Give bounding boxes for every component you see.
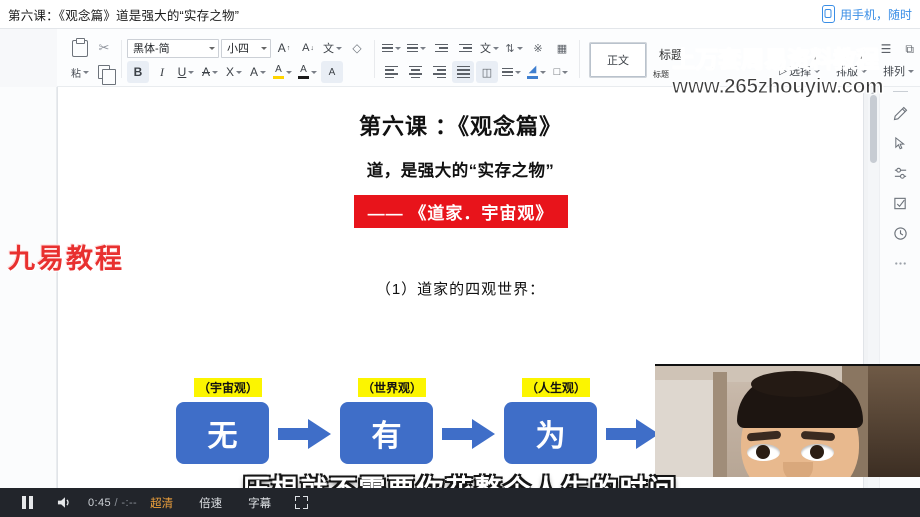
- paste-dropdown-button[interactable]: 粘: [69, 61, 91, 83]
- style-body-label: 正文: [607, 52, 629, 68]
- chevron-down-icon: [814, 70, 820, 73]
- chevron-down-icon: [336, 47, 342, 50]
- webcam-hair: [737, 376, 863, 428]
- history-clock-icon[interactable]: [880, 218, 920, 248]
- ribbon-group-paragraph: 文 ⇅ ※ ▦: [374, 33, 579, 87]
- align-center-icon: [409, 66, 422, 78]
- ribbon-group-editing: ☰ ⧉ ▷ 选择 排版 排列: [779, 33, 920, 87]
- flow-label-2: （人生观）: [522, 378, 590, 397]
- flow-box-0: 无: [176, 402, 269, 464]
- highlight-icon: A: [273, 65, 284, 79]
- shrink-font-label: A: [302, 42, 309, 54]
- arrange-label: 排列: [883, 63, 905, 79]
- left-gutter: [0, 87, 57, 488]
- paste-icon: [72, 40, 88, 57]
- highlight-button[interactable]: A: [271, 61, 294, 83]
- underline-button[interactable]: U: [175, 61, 197, 83]
- chevron-down-icon: [286, 71, 292, 74]
- speed-button[interactable]: 倍速: [186, 495, 235, 511]
- align-right-button[interactable]: [428, 61, 450, 83]
- typeset-label: 排版: [836, 63, 858, 79]
- flow-arrow-1: [442, 419, 495, 449]
- chevron-down-icon: [236, 71, 242, 74]
- chevron-down-icon: [493, 47, 499, 50]
- scrollbar-thumb[interactable]: [870, 95, 877, 163]
- highlight-label: A: [275, 65, 282, 75]
- phonetic-label: 文: [323, 40, 334, 56]
- decrease-indent-button[interactable]: [430, 37, 452, 59]
- chevron-down-icon: [261, 47, 267, 50]
- quality-button[interactable]: 超清: [137, 495, 186, 511]
- text-shading-button[interactable]: A: [321, 61, 343, 83]
- superscript-label: X: [226, 65, 234, 79]
- time-separator: /: [114, 497, 117, 509]
- align-right-icon: [433, 66, 446, 78]
- font-name-value: 黑体-简: [133, 40, 170, 56]
- style-body-button[interactable]: 正文: [589, 42, 647, 78]
- mobile-hint[interactable]: 用手机，随时: [822, 5, 912, 23]
- italic-button[interactable]: I: [151, 61, 173, 83]
- strike-label: A: [202, 65, 210, 79]
- flow-arrow-2: [606, 419, 659, 449]
- chevron-down-icon: [209, 47, 215, 50]
- increase-indent-icon: [459, 44, 472, 53]
- pen-icon[interactable]: [880, 98, 920, 128]
- chevron-down-icon: [260, 71, 266, 74]
- flow-label-0: （宇宙观）: [194, 378, 262, 397]
- doc-section-1: （1）道家的四观世界：: [58, 278, 863, 299]
- chevron-down-icon: [861, 70, 867, 73]
- webcam-door: [655, 380, 713, 477]
- chevron-down-icon: [515, 71, 521, 74]
- chevron-down-icon: [908, 70, 914, 73]
- paste-label: 粘: [71, 65, 81, 80]
- video-title-bar: 第六课：《观念篇》道是强大的“实存之物” 用手机，随时: [0, 0, 920, 29]
- copy-icon: [98, 65, 110, 79]
- copy-button[interactable]: [93, 61, 115, 83]
- watermark-left: 九易教程: [8, 237, 124, 276]
- font-color-button[interactable]: A: [296, 61, 319, 83]
- chevron-down-icon: [395, 47, 401, 50]
- paste-button[interactable]: [69, 37, 91, 59]
- flow-box-2: 为: [504, 402, 597, 464]
- doc-heading-2: 道，是强大的“实存之物”: [58, 157, 863, 181]
- sort-icon: ⇅: [505, 42, 514, 55]
- bold-button[interactable]: B: [127, 61, 149, 83]
- webcam-overlay[interactable]: [655, 364, 920, 477]
- webcam-door-frame: [713, 372, 727, 477]
- webcam-eye-left: [747, 444, 780, 461]
- underline-label: U: [178, 65, 187, 79]
- volume-icon[interactable]: [44, 488, 84, 517]
- fullscreen-icon[interactable]: [288, 488, 314, 517]
- chevron-down-icon: [83, 71, 89, 74]
- chevron-down-icon: [420, 47, 426, 50]
- distribute-button[interactable]: ◫: [476, 61, 498, 83]
- cut-button[interactable]: ✂: [93, 37, 115, 59]
- superscript-button[interactable]: X: [223, 61, 245, 83]
- align-center-button[interactable]: [404, 61, 426, 83]
- annotate-icon[interactable]: [880, 188, 920, 218]
- doc-red-band: —— 《道家．宇宙观》: [354, 195, 568, 228]
- typeset-button[interactable]: 排版: [836, 63, 867, 79]
- caption-button[interactable]: 字幕: [235, 495, 284, 511]
- font-color-icon: A: [298, 65, 309, 79]
- chevron-down-icon: [562, 71, 568, 74]
- borders-icon: □: [554, 66, 561, 78]
- grow-font-button[interactable]: A↑: [273, 37, 295, 59]
- clear-format-button[interactable]: ◇: [346, 37, 368, 59]
- align-left-button[interactable]: [380, 61, 402, 83]
- video-player-page: 第六课：《观念篇》道是强大的“实存之物” 用手机，随时 ✂: [0, 0, 920, 517]
- grid-button[interactable]: ▦: [551, 37, 573, 59]
- ribbon-toolbar: ✂ 粘: [57, 29, 920, 87]
- player-control-bar: 0:45 / -:-- 超清 倍速 字幕: [0, 488, 920, 517]
- font-color-label: A: [300, 65, 307, 75]
- chevron-down-icon: [188, 71, 194, 74]
- bullet-list-icon: [382, 44, 393, 53]
- cursor-icon: ▷: [779, 66, 787, 77]
- chevron-down-icon: [311, 71, 317, 74]
- char-border-label: A: [250, 65, 258, 79]
- align-justify-icon: [457, 66, 470, 78]
- replace-icon[interactable]: ⧉: [905, 42, 914, 57]
- video-title: 第六课：《观念篇》道是强大的“实存之物”: [8, 5, 239, 24]
- shading-label: A: [329, 67, 336, 78]
- asian-layout-button[interactable]: 文: [478, 37, 501, 59]
- grow-font-label: A: [278, 41, 286, 55]
- align-left-icon: [385, 66, 398, 78]
- font-name-combo[interactable]: 黑体-简: [127, 39, 219, 58]
- chevron-down-icon: [517, 47, 523, 50]
- distribute-icon: ◫: [482, 66, 492, 79]
- doc-heading-1: 第六课 ：《观念篇》: [58, 109, 863, 141]
- borders-button[interactable]: □: [550, 61, 572, 83]
- font-size-combo[interactable]: 小四: [221, 39, 271, 58]
- strikethrough-button[interactable]: A: [199, 61, 221, 83]
- mobile-hint-label: 用手机，随时: [840, 6, 912, 23]
- current-time: 0:45: [88, 497, 111, 509]
- flow-label-1: （世界观）: [358, 378, 426, 397]
- asian-layout-icon: 文: [480, 40, 491, 56]
- phonetic-guide-button[interactable]: 文: [321, 37, 344, 59]
- webcam-dark-right: [868, 366, 920, 477]
- flow-box-1: 有: [340, 402, 433, 464]
- char-border-button[interactable]: A: [247, 61, 269, 83]
- paragraph-marks-icon: ※: [533, 42, 542, 55]
- chevron-down-icon: [540, 71, 546, 74]
- shrink-font-button[interactable]: A↓: [297, 37, 319, 59]
- font-size-value: 小四: [227, 40, 249, 56]
- flow-arrow-0: [278, 419, 331, 449]
- increase-indent-button[interactable]: [454, 37, 476, 59]
- webcam-eye-right: [801, 444, 834, 461]
- select-label: 选择: [789, 63, 811, 79]
- style-heading-label[interactable]: 标题: [653, 46, 689, 63]
- arrange-button[interactable]: 排列: [883, 63, 914, 79]
- shading-icon: ◢: [527, 65, 538, 79]
- phone-icon: [822, 5, 835, 23]
- bold-label: B: [134, 65, 143, 79]
- line-spacing-icon: [502, 68, 513, 77]
- find-icon[interactable]: ☰: [881, 42, 892, 56]
- sliders-icon[interactable]: [880, 158, 920, 188]
- decrease-indent-icon: [435, 44, 448, 53]
- para-shading-button[interactable]: ◢: [525, 61, 548, 83]
- numbered-list-icon: [407, 44, 418, 53]
- italic-label: I: [160, 65, 164, 80]
- grid-icon: ▦: [557, 42, 567, 55]
- bullets-button[interactable]: [380, 37, 403, 59]
- rail-divider: [893, 91, 908, 92]
- style-heading-small-label: 标题: [653, 69, 669, 80]
- paragraph-marks-button[interactable]: ※: [527, 37, 549, 59]
- select-button[interactable]: ▷ 选择: [779, 63, 820, 79]
- total-time: -:--: [121, 497, 137, 509]
- more-dots-icon[interactable]: [880, 248, 920, 278]
- chevron-down-icon: [212, 71, 218, 74]
- align-justify-button[interactable]: [452, 61, 474, 83]
- ribbon-group-styles: 正文 标题 标题: [579, 33, 695, 87]
- numbering-button[interactable]: [405, 37, 428, 59]
- ribbon-group-font: 黑体-简 小四 A↑ A↓: [121, 33, 374, 87]
- line-spacing-button[interactable]: [500, 61, 523, 83]
- select-cursor-icon[interactable]: [880, 128, 920, 158]
- pause-icon[interactable]: [10, 488, 44, 517]
- ribbon-group-clipboard: ✂ 粘: [63, 33, 121, 87]
- player-time: 0:45 / -:--: [88, 497, 137, 509]
- sort-button[interactable]: ⇅: [503, 37, 525, 59]
- scissors-icon: ✂: [99, 40, 110, 56]
- eraser-icon: ◇: [352, 41, 361, 55]
